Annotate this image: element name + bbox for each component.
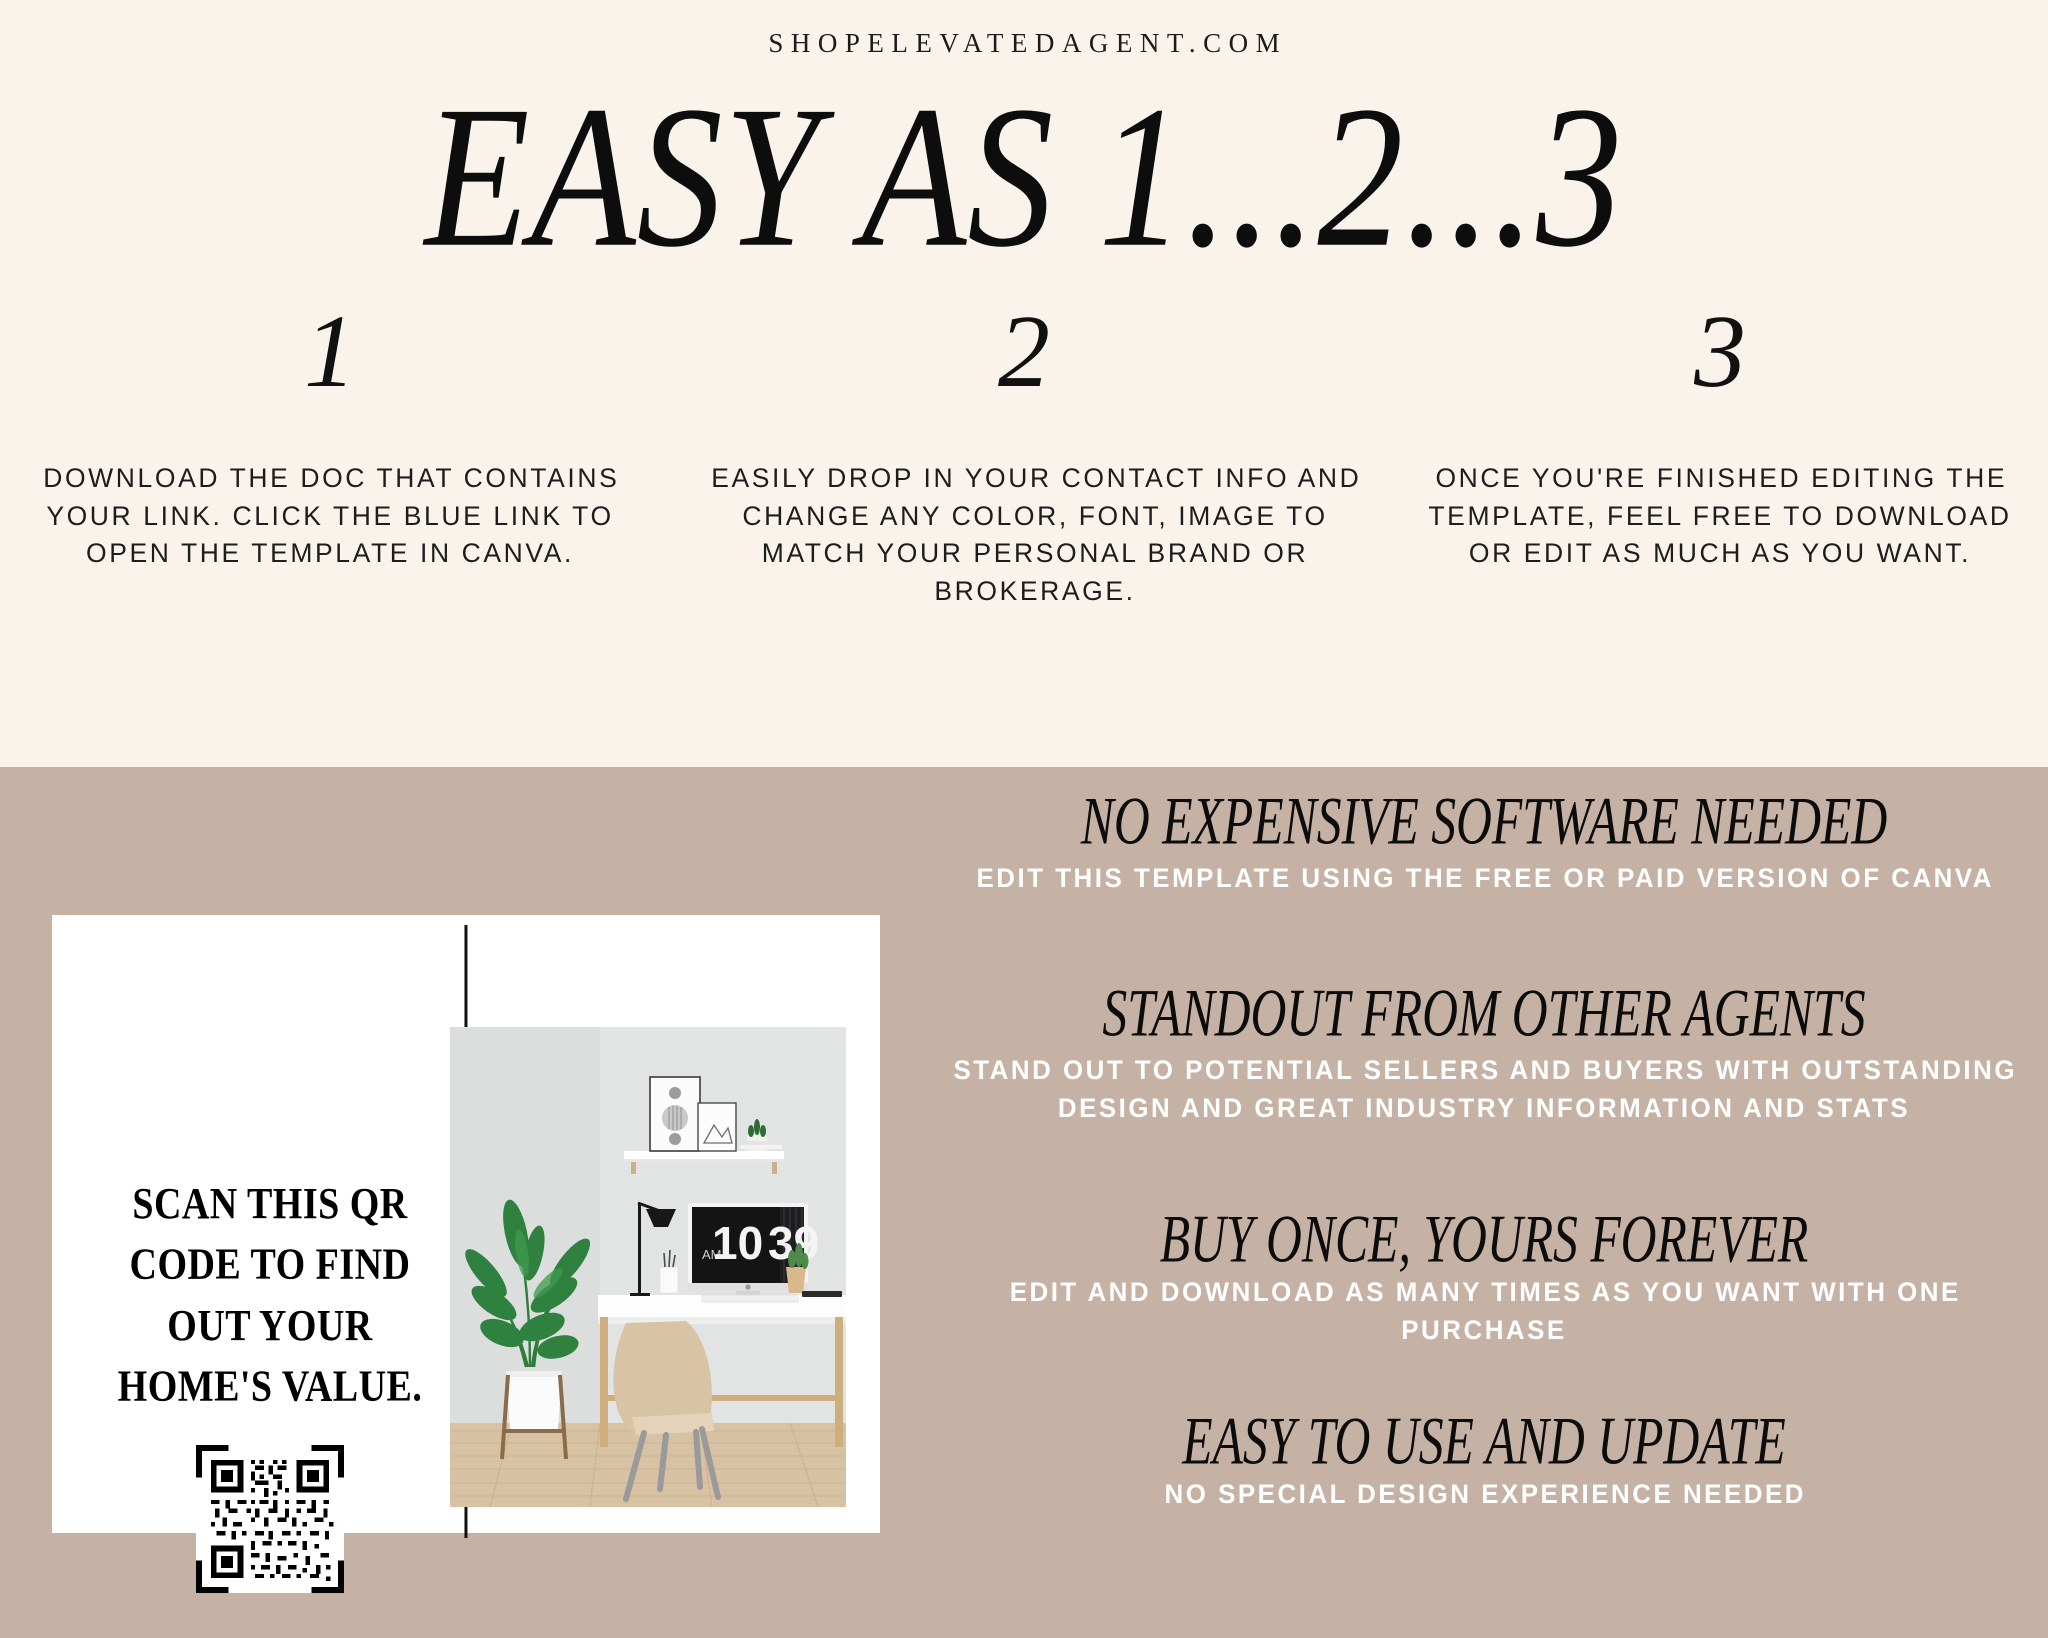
page-title: EASY AS 1...2...3	[0, 76, 2048, 279]
step-description-1: DOWNLOAD THE DOC THAT CONTAINS YOUR LINK…	[10, 460, 650, 573]
feature-title: BUY ONCE, YOURS FOREVER	[965, 1205, 2003, 1273]
feature-subtitle: EDIT AND DOWNLOAD AS MANY TIMES AS YOU W…	[943, 1273, 2026, 1350]
feature-subtitle: STAND OUT TO POTENTIAL SELLERS AND BUYER…	[943, 1051, 2026, 1128]
feature-title: NO EXPENSIVE SOFTWARE NEEDED	[965, 787, 2003, 855]
step-number-1: 1	[50, 300, 610, 404]
feature-title: STANDOUT FROM OTHER AGENTS	[965, 979, 2003, 1047]
svg-text:10: 10	[712, 1217, 763, 1269]
preview-card: SCAN THIS QR CODE TO FIND OUT YOUR HOME'…	[52, 915, 880, 1533]
poster-canvas: SHOPELEVATEDAGENT.COM EASY AS 1...2...3 …	[0, 0, 2048, 1638]
feature-item: STANDOUT FROM OTHER AGENTS STAND OUT TO …	[920, 979, 2048, 1128]
step-description-3: ONCE YOU'RE FINISHED EDITING THE TEMPLAT…	[1405, 460, 2035, 573]
feature-title: EASY TO USE AND UPDATE	[965, 1407, 2003, 1475]
step-number-3: 3	[1440, 300, 2000, 404]
site-url: SHOPELEVATEDAGENT.COM	[0, 28, 2048, 59]
feature-subtitle: NO SPECIAL DESIGN EXPERIENCE NEEDED	[943, 1475, 2026, 1513]
feature-item: NO EXPENSIVE SOFTWARE NEEDED EDIT THIS T…	[920, 787, 2048, 897]
step-description-2: EASILY DROP IN YOUR CONTACT INFO AND CHA…	[695, 460, 1375, 611]
qr-headline: SCAN THIS QR CODE TO FIND OUT YOUR HOME'…	[109, 1173, 432, 1417]
qr-code-icon	[196, 1445, 344, 1593]
office-photo: AM 10 39	[450, 1027, 846, 1507]
step-number-2: 2	[744, 300, 1304, 404]
bottom-section: SCAN THIS QR CODE TO FIND OUT YOUR HOME'…	[0, 767, 2048, 1638]
feature-item: BUY ONCE, YOURS FOREVER EDIT AND DOWNLOA…	[920, 1205, 2048, 1350]
feature-subtitle: EDIT THIS TEMPLATE USING THE FREE OR PAI…	[943, 859, 2026, 897]
top-section: SHOPELEVATEDAGENT.COM EASY AS 1...2...3 …	[0, 0, 2048, 767]
feature-item: EASY TO USE AND UPDATE NO SPECIAL DESIGN…	[920, 1407, 2048, 1513]
feature-list: NO EXPENSIVE SOFTWARE NEEDED EDIT THIS T…	[920, 787, 2048, 1627]
step-numbers-row: 1 2 3	[0, 300, 2048, 420]
qr-panel: SCAN THIS QR CODE TO FIND OUT YOUR HOME'…	[70, 945, 470, 1505]
